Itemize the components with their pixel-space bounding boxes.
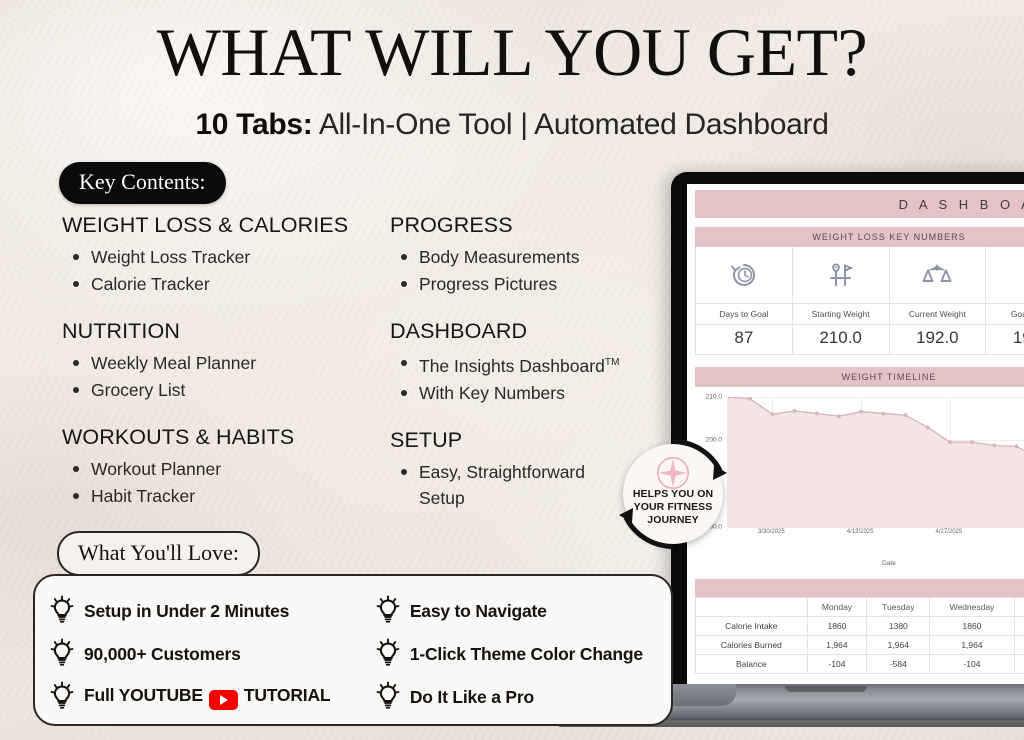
benefit-label: 90,000+ Customers bbox=[84, 644, 241, 665]
benefit-brand: YOUTUBE bbox=[119, 685, 203, 705]
category-block: SETUP Easy, Straightforward Setup bbox=[390, 428, 640, 511]
key-number-label: Days to Goal bbox=[696, 303, 792, 324]
fitness-journey-sticker: HELPS YOU ON YOUR FITNESS JOURNEY bbox=[617, 438, 729, 550]
laptop-screen-bezel: D A S H B O A R D WEIGHT LOSS KEY NUMBER… bbox=[671, 172, 1024, 684]
table-cell: 1860 bbox=[807, 617, 867, 636]
dashboard-title: D A S H B O A R D bbox=[899, 197, 1024, 212]
what-youll-love-badge: What You'll Love: bbox=[57, 531, 260, 576]
list-item: The Insights DashboardTM bbox=[399, 350, 640, 379]
key-numbers-section-label: WEIGHT LOSS KEY NUMBERS bbox=[812, 232, 965, 242]
sticker-line-2: YOUR FITNESS bbox=[617, 501, 729, 514]
table-cell: -584 bbox=[867, 655, 930, 674]
category-block: WEIGHT LOSS & CALORIES Weight Loss Track… bbox=[62, 213, 392, 297]
dashboard-screen: D A S H B O A R D WEIGHT LOSS KEY NUMBER… bbox=[687, 184, 1024, 684]
category-heading: WORKOUTS & HABITS bbox=[62, 425, 392, 450]
chart-x-axis: 3/30/20254/13/20254/27/20255/11/2025 bbox=[727, 529, 1024, 541]
category-heading: SETUP bbox=[390, 428, 640, 453]
list-item: Progress Pictures bbox=[399, 271, 640, 297]
lightbulb-icon bbox=[375, 638, 401, 671]
goal-note-icon bbox=[986, 247, 1024, 303]
table-cell: 1,964 bbox=[930, 636, 1014, 655]
sticker-line-1: HELPS YOU ON bbox=[617, 488, 729, 501]
category-block: NUTRITION Weekly Meal Planner Grocery Li… bbox=[62, 319, 392, 403]
category-list: Weight Loss Tracker Calorie Tracker bbox=[62, 244, 392, 297]
list-item: Habit Tracker bbox=[71, 483, 392, 509]
benefit-item: 1-Click Theme Color Change bbox=[375, 638, 671, 671]
chart-series-svg bbox=[728, 397, 1024, 527]
table-row: Balance-104-584-104-1,1 bbox=[696, 655, 1024, 674]
table-cell: 1860 bbox=[930, 617, 1014, 636]
youtube-logo-icon bbox=[209, 690, 238, 710]
table-row-header: Balance bbox=[696, 655, 808, 674]
benefit-prefix: Full bbox=[84, 685, 119, 705]
category-list: Easy, Straightforward Setup bbox=[390, 459, 640, 511]
key-number-value: 210.0 bbox=[793, 324, 889, 354]
key-number-cell: Starting Weight 210.0 bbox=[793, 247, 890, 354]
trademark-mark: TM bbox=[605, 357, 620, 368]
chart-gridline bbox=[728, 527, 1024, 528]
key-contents-column-left: WEIGHT LOSS & CALORIES Weight Loss Track… bbox=[62, 213, 392, 510]
lightbulb-icon bbox=[49, 681, 75, 714]
key-number-cell: Days to Goal 87 bbox=[696, 247, 793, 354]
chart-plot-area: 210.0200.0180.0 3/30/20254/13/20254/27/2… bbox=[695, 397, 1024, 547]
list-item: Workout Planner bbox=[71, 456, 392, 482]
key-numbers-table: Days to Goal 87 Starting bbox=[695, 247, 1024, 355]
table-column-header: Monday bbox=[807, 598, 867, 617]
key-number-label: Goal Weight bbox=[986, 303, 1024, 324]
key-number-label: Current Weight bbox=[890, 303, 986, 324]
table-cell: 1 bbox=[1014, 617, 1024, 636]
benefit-label: Do It Like a Pro bbox=[410, 687, 534, 708]
table-cell: -1,1 bbox=[1014, 655, 1024, 674]
balance-scale-icon bbox=[890, 247, 986, 303]
table-row-header: Calorie Intake bbox=[696, 617, 808, 636]
category-list: Body Measurements Progress Pictures bbox=[390, 244, 640, 297]
key-number-label: Starting Weight bbox=[793, 303, 889, 324]
benefit-item: 90,000+ Customers bbox=[49, 638, 375, 671]
key-contents-badge: Key Contents: bbox=[59, 162, 226, 204]
benefits-row: Full YOUTUBETUTORIAL bbox=[49, 676, 671, 719]
benefit-item-youtube: Full YOUTUBETUTORIAL bbox=[49, 681, 375, 714]
benefits-row: 90,000+ Customers bbox=[49, 633, 671, 676]
table-row-header: Calories Burned bbox=[696, 636, 808, 655]
key-numbers-section-header: WEIGHT LOSS KEY NUMBERS bbox=[695, 227, 1024, 247]
table-column-header: Thursday bbox=[1014, 598, 1024, 617]
list-item: Body Measurements bbox=[399, 244, 640, 270]
table-row: Calories Burned1,9641,9641,9641,9 bbox=[696, 636, 1024, 655]
category-block: WORKOUTS & HABITS Workout Planner Habit … bbox=[62, 425, 392, 509]
chart-series-area bbox=[727, 397, 1024, 527]
lightbulb-icon bbox=[49, 595, 75, 628]
list-item: Weight Loss Tracker bbox=[71, 244, 392, 270]
chart-x-tick: 4/13/2025 bbox=[847, 529, 874, 535]
lightbulb-icon bbox=[375, 681, 401, 714]
chart-section-label: WEIGHT TIMELINE bbox=[842, 372, 937, 382]
sticker-line-3: JOURNEY bbox=[617, 514, 729, 527]
category-block: PROGRESS Body Measurements Progress Pict… bbox=[390, 213, 640, 297]
key-number-value: 87 bbox=[696, 324, 792, 354]
what-youll-love-card: Setup in Under 2 Minutes bbox=[33, 574, 673, 726]
calories-section-header bbox=[695, 579, 1024, 597]
key-number-value: 190.0 bbox=[986, 324, 1024, 354]
list-item: Grocery List bbox=[71, 377, 392, 403]
table-cell: 1,964 bbox=[807, 636, 867, 655]
table-cell: -104 bbox=[930, 655, 1014, 674]
lightbulb-icon bbox=[375, 595, 401, 628]
page-subtitle: 10 Tabs: All-In-One Tool | Automated Das… bbox=[0, 104, 1024, 146]
chart-x-tick: 3/30/2025 bbox=[758, 529, 785, 535]
benefits-row: Setup in Under 2 Minutes bbox=[49, 590, 671, 633]
category-block: DASHBOARD The Insights DashboardTM With … bbox=[390, 319, 640, 406]
category-heading: WEIGHT LOSS & CALORIES bbox=[62, 213, 392, 238]
table-cell: 1,964 bbox=[867, 636, 930, 655]
dashboard-title-bar: D A S H B O A R D bbox=[695, 190, 1024, 218]
page-title: WHAT WILL YOU GET? bbox=[0, 12, 1024, 92]
subtitle-bold: 10 Tabs: bbox=[195, 108, 312, 141]
category-list: The Insights DashboardTM With Key Number… bbox=[390, 350, 640, 406]
subtitle-rest: All-In-One Tool | Automated Dashboard bbox=[312, 108, 828, 141]
benefit-label: 1-Click Theme Color Change bbox=[410, 644, 643, 665]
table-header-row: MondayTuesdayWednesdayThursday bbox=[696, 598, 1024, 617]
list-item: With Key Numbers bbox=[399, 380, 640, 406]
category-list: Weekly Meal Planner Grocery List bbox=[62, 350, 392, 403]
benefit-label: Easy to Navigate bbox=[410, 601, 547, 622]
benefit-item: Setup in Under 2 Minutes bbox=[49, 595, 375, 628]
start-flag-icon bbox=[793, 247, 889, 303]
table-column-header: Wednesday bbox=[930, 598, 1014, 617]
table-row: Calorie Intake1860138018601 bbox=[696, 617, 1024, 636]
category-heading: PROGRESS bbox=[390, 213, 640, 238]
chart-x-axis-label: Date bbox=[695, 560, 1024, 567]
weight-timeline-chart: 210.0200.0180.0 3/30/20254/13/20254/27/2… bbox=[695, 397, 1024, 567]
clock-history-icon bbox=[696, 247, 792, 303]
chart-y-tick: 210.0 bbox=[706, 394, 722, 401]
chart-x-tick: 4/27/2025 bbox=[936, 529, 963, 535]
table-column-header bbox=[696, 598, 808, 617]
key-number-cell: Current Weight 192.0 bbox=[890, 247, 987, 354]
category-heading: NUTRITION bbox=[62, 319, 392, 344]
category-list: Workout Planner Habit Tracker bbox=[62, 456, 392, 509]
table-cell: 1,9 bbox=[1014, 636, 1024, 655]
category-heading: DASHBOARD bbox=[390, 319, 640, 344]
key-number-value: 192.0 bbox=[890, 324, 986, 354]
chart-section-header: WEIGHT TIMELINE bbox=[695, 367, 1024, 387]
key-contents-column-right: PROGRESS Body Measurements Progress Pict… bbox=[390, 213, 640, 512]
list-item: Easy, Straightforward Setup bbox=[399, 459, 614, 511]
list-item: Calorie Tracker bbox=[71, 271, 392, 297]
table-cell: -104 bbox=[807, 655, 867, 674]
benefit-label: Setup in Under 2 Minutes bbox=[84, 601, 289, 622]
benefit-item: Do It Like a Pro bbox=[375, 681, 671, 714]
key-number-cell: Goal Weight 190.0 bbox=[986, 247, 1024, 354]
benefit-item: Easy to Navigate bbox=[375, 595, 671, 628]
table-cell: 1380 bbox=[867, 617, 930, 636]
benefits-grid: Setup in Under 2 Minutes bbox=[35, 576, 671, 724]
list-item: Weekly Meal Planner bbox=[71, 350, 392, 376]
sticker-text: HELPS YOU ON YOUR FITNESS JOURNEY bbox=[617, 488, 729, 527]
lightbulb-icon bbox=[49, 638, 75, 671]
list-item-text: The Insights Dashboard bbox=[419, 356, 605, 376]
calories-table: MondayTuesdayWednesdayThursdayCalorie In… bbox=[695, 597, 1024, 674]
benefit-suffix: TUTORIAL bbox=[244, 685, 331, 705]
table-column-header: Tuesday bbox=[867, 598, 930, 617]
